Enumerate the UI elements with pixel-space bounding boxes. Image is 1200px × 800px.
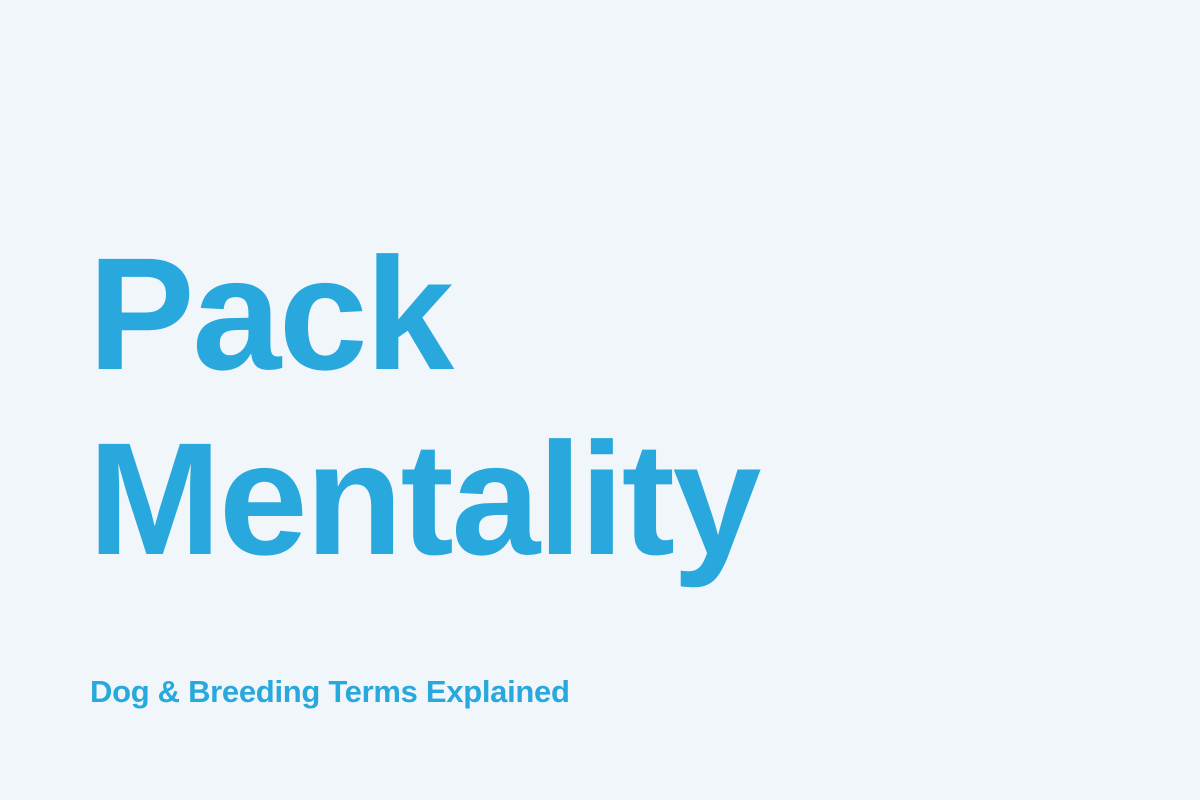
page-title: Pack Mentality xyxy=(88,222,848,592)
headline-block: Pack Mentality xyxy=(88,222,848,592)
title-card: Pack Mentality Dog & Breeding Terms Expl… xyxy=(0,0,1200,800)
page-subtitle: Dog & Breeding Terms Explained xyxy=(90,673,570,710)
